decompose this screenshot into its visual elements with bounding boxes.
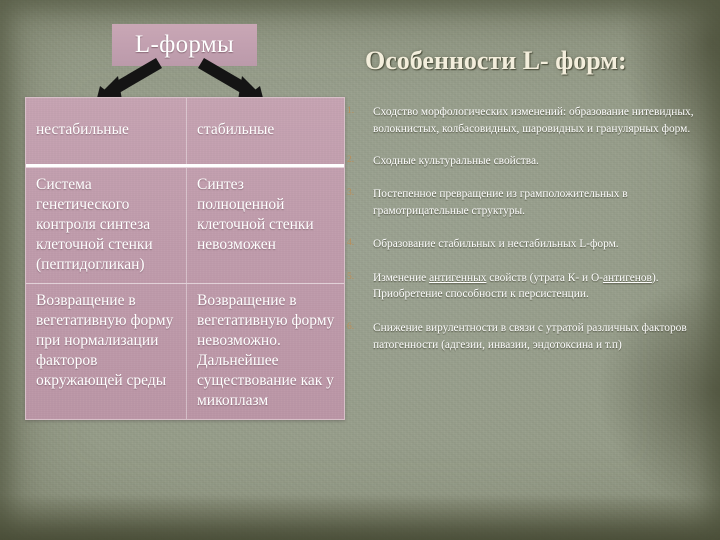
list-item-text: Постепенное превращение из грамположител… bbox=[373, 186, 705, 219]
table-column-header-stable: стабильные bbox=[187, 98, 344, 164]
list-item: 3. Постепенное превращение из грамположи… bbox=[347, 186, 705, 219]
list-item-text: Сходство морфологических изменений: обра… bbox=[373, 104, 705, 137]
list-item-text-mid: свойств (утрата К- и О- bbox=[486, 272, 603, 284]
table-row: Система генетического контроля синтеза к… bbox=[26, 167, 344, 283]
list-item-text: Образование стабильных и нестабильных L-… bbox=[373, 236, 705, 253]
comparison-table: нестабильные стабильные Система генетиче… bbox=[25, 97, 345, 420]
list-item-underlined-antigennyh: антигенных bbox=[429, 272, 486, 284]
list-item-underlined-antigenov: антигенов bbox=[603, 272, 652, 284]
list-item-number: 2. bbox=[347, 153, 373, 168]
list-item: 5. Изменение антигенных свойств (утрата … bbox=[347, 270, 705, 303]
table-column-header-unstable: нестабильные bbox=[26, 98, 187, 164]
table-row: Возвращение в вегетативную форму при нор… bbox=[26, 283, 344, 419]
list-item-number: 4. bbox=[347, 236, 373, 251]
list-item: 2. Сходные культуральные свойства. bbox=[347, 153, 705, 170]
list-item-text: Сходные культуральные свойства. bbox=[373, 153, 705, 170]
table-header-row: нестабильные стабильные bbox=[26, 98, 344, 167]
list-item: 4. Образование стабильных и нестабильных… bbox=[347, 236, 705, 253]
list-item-number: 1. bbox=[347, 104, 373, 119]
slide-canvas: L-формы Особенности L- форм: нестабильны… bbox=[0, 0, 720, 540]
features-list: 1. Сходство морфологических изменений: о… bbox=[347, 104, 705, 366]
bottom-edge-shading bbox=[0, 494, 720, 540]
lform-heading-label: L-формы bbox=[135, 31, 234, 59]
list-item-text: Снижение вирулентности в связи с утратой… bbox=[373, 320, 705, 353]
page-title: Особенности L- форм: bbox=[365, 46, 627, 76]
list-item-text-pre: Изменение bbox=[373, 272, 429, 284]
list-item: 6. Снижение вирулентности в связи с утра… bbox=[347, 320, 705, 353]
table-cell-unstable: Возвращение в вегетативную форму при нор… bbox=[26, 284, 187, 419]
table-cell-stable: Возвращение в вегетативную форму невозмо… bbox=[187, 284, 344, 419]
table-cell-stable: Синтез полноценной клеточной стенки нево… bbox=[187, 168, 344, 283]
list-item: 1. Сходство морфологических изменений: о… bbox=[347, 104, 705, 137]
table-cell-unstable: Система генетического контроля синтеза к… bbox=[26, 168, 187, 283]
list-item-number: 5. bbox=[347, 270, 373, 285]
list-item-text: Изменение антигенных свойств (утрата К- … bbox=[373, 270, 705, 303]
list-item-number: 3. bbox=[347, 186, 373, 201]
list-item-number: 6. bbox=[347, 320, 373, 335]
